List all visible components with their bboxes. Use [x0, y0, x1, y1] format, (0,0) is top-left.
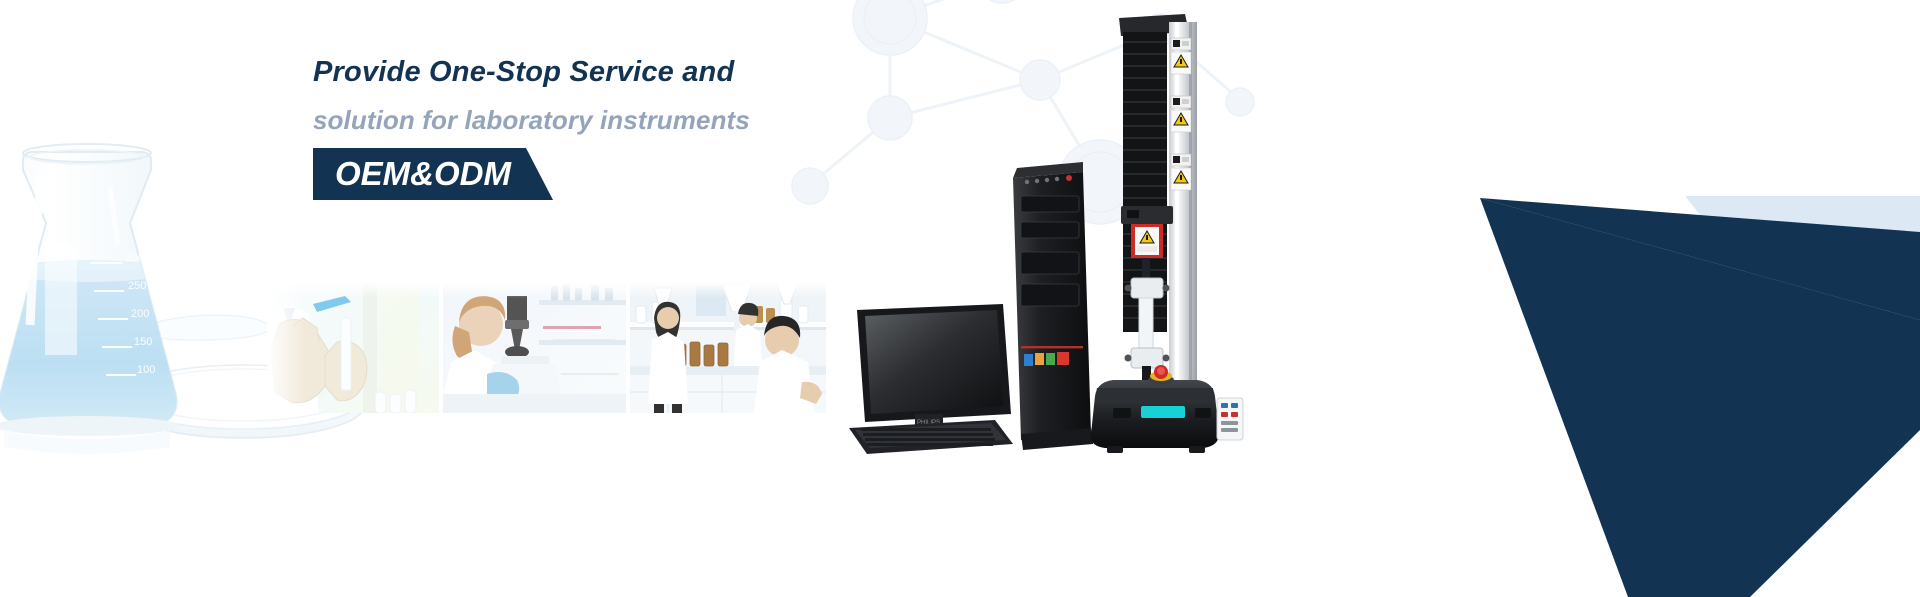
svg-text:200: 200: [131, 308, 149, 320]
svg-text:300: 300: [126, 252, 144, 264]
photo-scientist-pipetting: [267, 282, 439, 413]
headline-line-1: Provide One-Stop Service and: [313, 58, 933, 87]
tower-badge-stickers: [1024, 352, 1069, 366]
universal-tensile-testing-machine: [1091, 14, 1243, 453]
svg-text:mL: mL: [66, 243, 80, 254]
photo-lab-team: [630, 282, 826, 413]
lab-photo-strip: [267, 282, 827, 413]
equipment-scene: PHILIPS: [845, 10, 1335, 470]
promo-banner: Provide One-Stop Service and solution fo…: [0, 0, 1920, 597]
computer-keyboard: [849, 420, 1013, 454]
svg-text:250: 250: [128, 280, 146, 292]
control-display: [1141, 406, 1185, 418]
svg-text:150: 150: [134, 336, 152, 348]
photo-researcher-microscope: [443, 282, 626, 413]
desktop-computer-tower: [1013, 162, 1093, 450]
svg-text:100: 100: [137, 364, 155, 376]
